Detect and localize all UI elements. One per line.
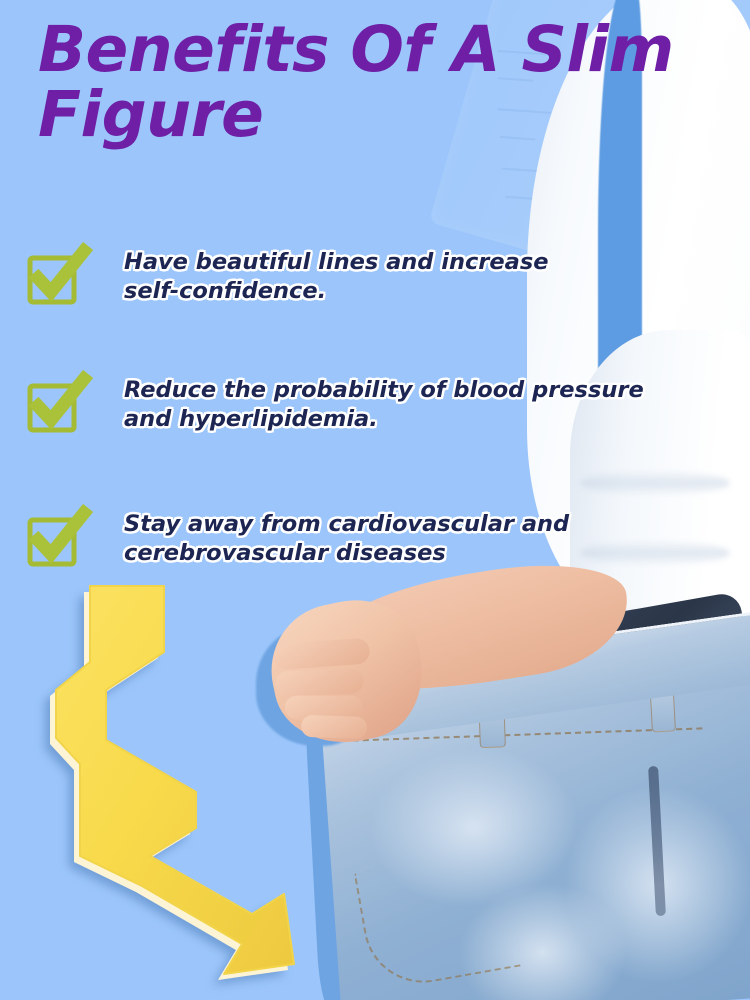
benefits-list: Have beautiful lines and increase self-c… [26,246,726,608]
poster: 4 3 0 [0,0,750,1000]
list-item-label: Reduce the probability of blood pressure… [124,376,644,434]
list-item: Reduce the probability of blood pressure… [26,374,726,508]
list-item-label: Stay away from cardiovascular and cerebr… [124,510,569,568]
checkbox-check-icon [26,512,84,570]
list-item: Have beautiful lines and increase self-c… [26,246,726,374]
down-right-zigzag-arrow-icon [46,578,336,978]
checkbox-check-icon [26,378,84,436]
checkbox-check-icon [26,250,84,308]
list-item-label: Have beautiful lines and increase self-c… [124,248,549,306]
page-title: Benefits Of A Slim Figure [38,18,698,148]
poster-content: Benefits Of A Slim Figure Have beautiful… [0,0,750,1000]
